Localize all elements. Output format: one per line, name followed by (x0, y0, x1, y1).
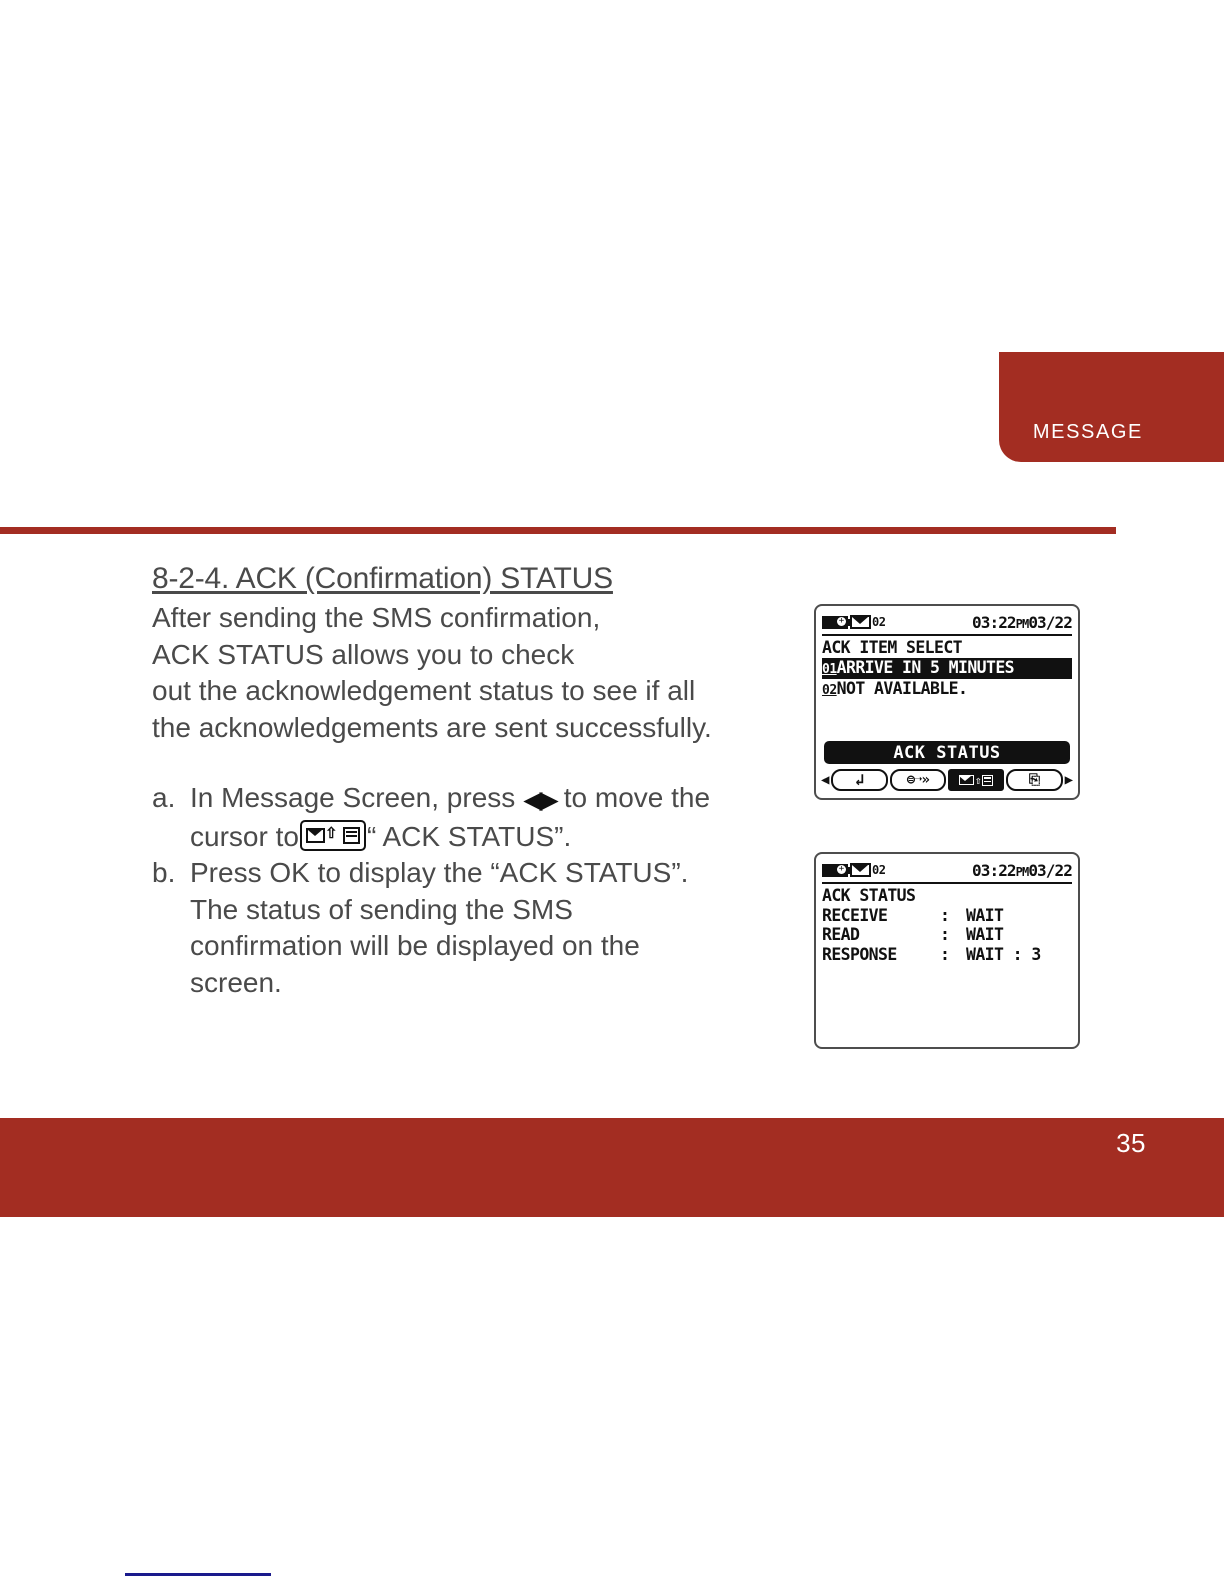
envelope-icon (850, 863, 871, 877)
footer-band (0, 1118, 1224, 1217)
list-item: a. In Message Screen, press◀▶to move the… (152, 780, 812, 855)
item-text: ARRIVE IN 5 MINUTES (837, 658, 1014, 677)
device-screen-ack-item-select: + 02 03:22PM03/22 ACK ITEM SELECT 01ARRI… (814, 604, 1080, 800)
page-title: 8-2-4. ACK (Confirmation) STATUS (152, 560, 812, 598)
ack-item-row-selected[interactable]: 01ARRIVE IN 5 MINUTES (822, 658, 1072, 680)
step-body: Press OK to display the “ACK STATUS”. Th… (190, 855, 812, 1001)
item-text: NOT AVAILABLE. (837, 679, 968, 698)
intro-line: out the acknowledgement status to see if… (152, 673, 812, 710)
time-value: 03:22 (972, 613, 1016, 632)
header-rule (0, 527, 1116, 534)
battery-plus-icon: + (837, 865, 846, 874)
battery-icon: + (822, 616, 848, 629)
step-line: In Message Screen, press◀▶to move the (190, 780, 812, 819)
left-right-arrows-icon: ◀▶ (523, 782, 555, 819)
status-bar: + 02 03:22PM03/22 (822, 610, 1072, 636)
item-index: 01 (822, 662, 837, 677)
list-item: b. Press OK to display the “ACK STATUS”.… (152, 855, 812, 1001)
step-text: In Message Screen, press (190, 782, 515, 813)
status-bar: + 02 03:22PM03/22 (822, 858, 1072, 884)
magnifier-icon: ⎘ (1029, 773, 1040, 787)
section-tab: MESSAGE (999, 352, 1224, 462)
step-body: In Message Screen, press◀▶to move the cu… (190, 780, 812, 855)
softkey-transmit[interactable]: ⊜➝» (890, 769, 946, 791)
softkey-back[interactable]: ↲ (831, 769, 887, 791)
list-icon (343, 827, 360, 844)
status-row-response: RESPONSE : WAIT : 3 (822, 945, 1072, 965)
page-number: 35 (1116, 1128, 1146, 1159)
softkey-ack-status[interactable]: ⇧ (948, 769, 1004, 791)
main-content: 8-2-4. ACK (Confirmation) STATUS After s… (152, 560, 812, 1001)
row-separator: : (940, 906, 966, 926)
step-text: “ ACK STATUS”. (367, 821, 571, 852)
step-line: Press OK to display the “ACK STATUS”. (190, 855, 812, 892)
envelope-icon (306, 828, 325, 843)
intro-paragraph: After sending the SMS confirmation, ACK … (152, 600, 812, 746)
screen-title: ACK STATUS (822, 886, 1072, 906)
time-ampm: PM (1016, 865, 1029, 879)
up-arrow-icon: ⇧ (975, 775, 982, 786)
intro-line: ACK STATUS allows you to check (152, 637, 812, 674)
ack-status-key-icon: ⇧ (300, 820, 366, 851)
step-marker: a. (152, 780, 190, 817)
status-time: 03:22PM03/22 (972, 613, 1072, 632)
row-separator: : (940, 925, 966, 945)
up-arrow-icon: ⇧ (325, 826, 338, 841)
row-value: WAIT (966, 906, 1003, 926)
softkey-bar: ◀ ↲ ⊜➝» ⇧ ⎘ ▶ (821, 767, 1073, 793)
section-tab-label: MESSAGE (1033, 421, 1143, 444)
step-marker: b. (152, 855, 190, 892)
envelope-icon (959, 775, 974, 785)
scroll-left-icon[interactable]: ◀ (821, 773, 829, 787)
row-value: WAIT : 3 (966, 945, 1041, 965)
intro-line: After sending the SMS confirmation, (152, 600, 812, 637)
status-row-receive: RECEIVE : WAIT (822, 906, 1072, 926)
time-ampm: PM (1016, 617, 1029, 631)
scroll-right-icon[interactable]: ▶ (1065, 773, 1073, 787)
intro-line: the acknowledgements are sent successful… (152, 710, 812, 747)
message-count: 02 (872, 863, 885, 877)
device-screen-ack-status: + 02 03:22PM03/22 ACK STATUS RECEIVE : W… (814, 852, 1080, 1049)
transmit-icon: ⊜➝» (907, 773, 929, 787)
ack-item-row[interactable]: 02NOT AVAILABLE. (822, 679, 1072, 701)
status-time: 03:22PM03/22 (972, 861, 1072, 880)
message-count: 02 (872, 615, 885, 629)
bottom-margin-mark (125, 1573, 271, 1576)
row-separator: : (940, 945, 966, 965)
battery-plus-icon: + (837, 617, 846, 626)
time-value: 03:22 (972, 861, 1016, 880)
row-key: RECEIVE (822, 906, 940, 926)
screen-body: ACK ITEM SELECT 01ARRIVE IN 5 MINUTES 02… (822, 638, 1072, 701)
step-line: cursor to⇧“ ACK STATUS”. (190, 819, 812, 856)
ack-status-banner: ACK STATUS (824, 741, 1070, 764)
step-line: screen. (190, 965, 812, 1002)
row-value: WAIT (966, 925, 1003, 945)
item-index: 02 (822, 683, 837, 698)
battery-icon: + (822, 864, 848, 877)
status-row-read: READ : WAIT (822, 925, 1072, 945)
step-text: to move the (564, 782, 710, 813)
date-value: 03/22 (1028, 613, 1072, 632)
screen-title: ACK ITEM SELECT (822, 638, 1072, 658)
step-list: a. In Message Screen, press◀▶to move the… (152, 780, 812, 1001)
list-icon (982, 775, 993, 786)
step-line: The status of sending the SMS (190, 892, 812, 929)
softkey-zoom[interactable]: ⎘ (1006, 769, 1062, 791)
back-arrow-icon: ↲ (855, 772, 865, 788)
envelope-icon (850, 615, 871, 629)
step-line: confirmation will be displayed on the (190, 928, 812, 965)
screen-body: ACK STATUS RECEIVE : WAIT READ : WAIT RE… (822, 886, 1072, 964)
row-key: RESPONSE (822, 945, 940, 965)
date-value: 03/22 (1028, 861, 1072, 880)
row-key: READ (822, 925, 940, 945)
step-text: cursor to (190, 821, 299, 852)
